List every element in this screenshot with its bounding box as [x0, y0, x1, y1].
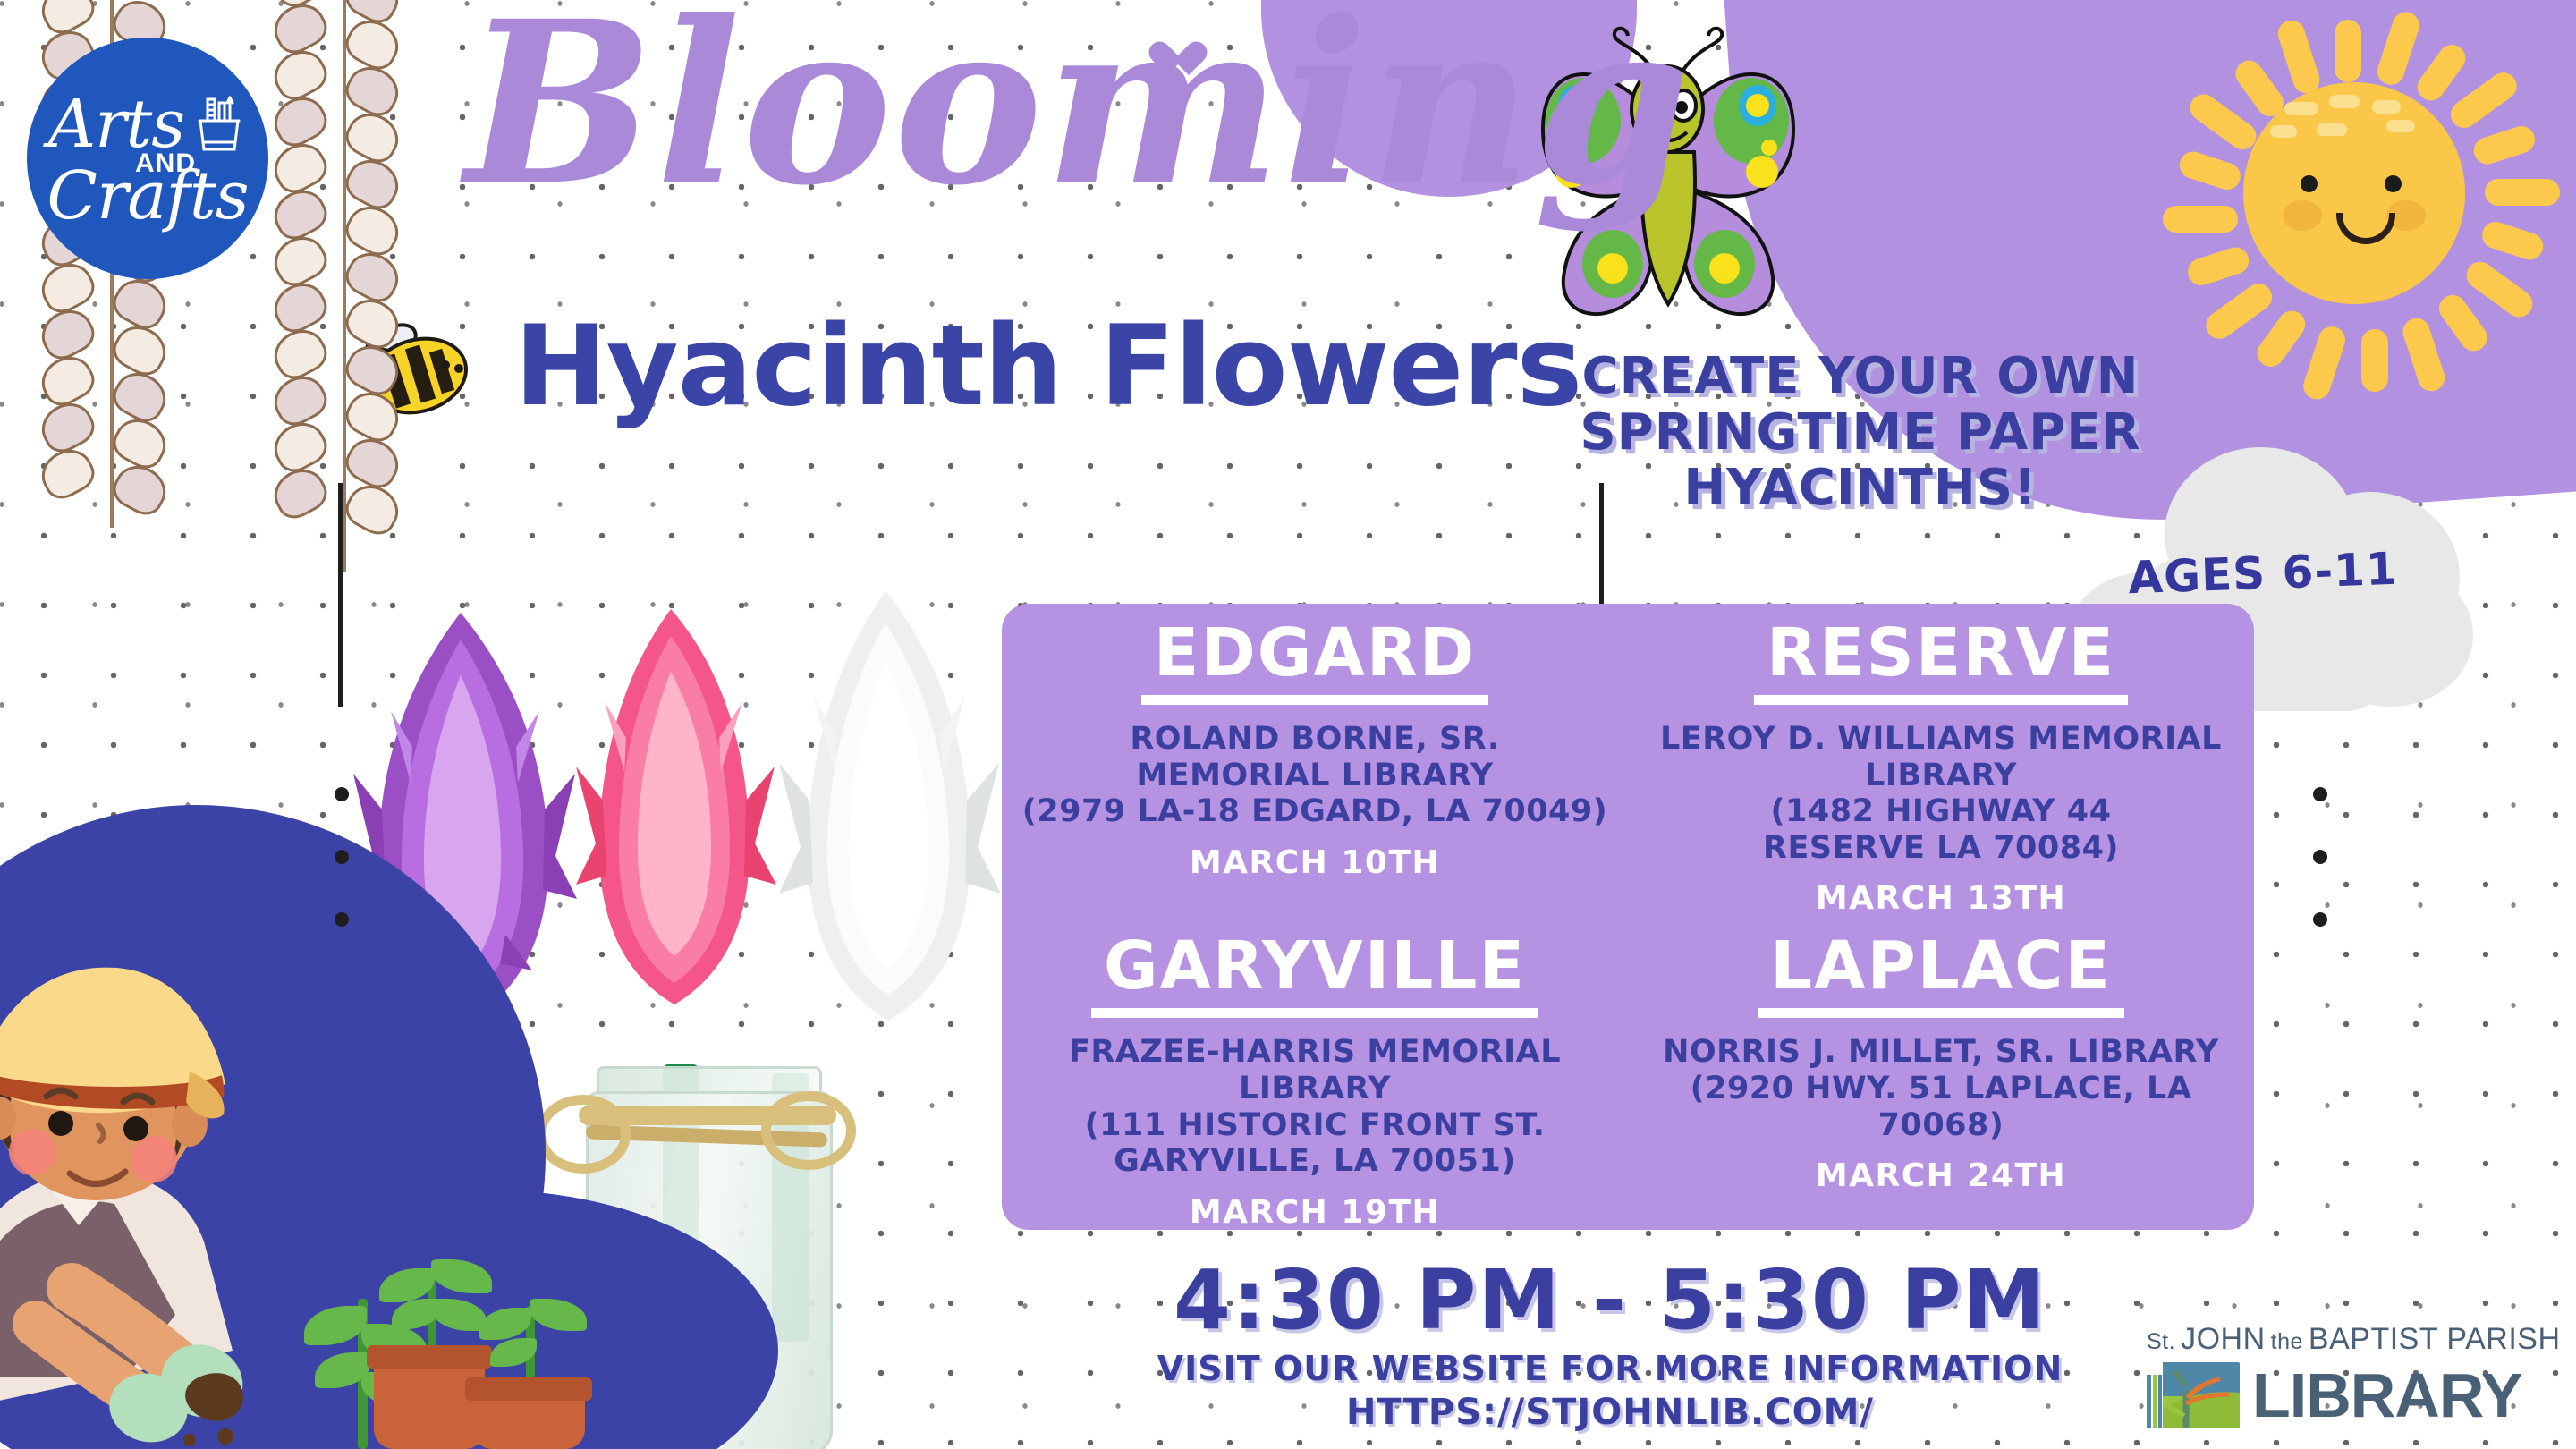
location-date: MARCH 10TH — [1190, 844, 1440, 881]
logo-the: the — [2271, 1329, 2303, 1355]
badge-crafts-label: Crafts — [47, 168, 248, 225]
logo-parish: BAPTIST PARISH — [2309, 1322, 2561, 1357]
sun-ray — [2252, 306, 2310, 372]
location-city-name: RESERVE — [1754, 620, 2128, 705]
website-url[interactable]: HTTPS://STJOHNLIB.COM/ — [1145, 1392, 2075, 1433]
divider-dot — [335, 912, 349, 927]
arts-and-crafts-badge: Arts AND Crafts — [27, 38, 268, 279]
address-line: LEROY D. WILLIAMS MEMORIAL LIBRARY — [1640, 721, 2241, 793]
divider-dot — [2313, 912, 2327, 927]
sun-ray — [2200, 278, 2277, 344]
sun-ray — [2485, 179, 2560, 206]
location-reserve: RESERVE LEROY D. WILLIAMS MEMORIAL LIBRA… — [1628, 604, 2254, 917]
address-line: MEMORIAL LIBRARY — [1022, 758, 1608, 794]
sun-ray — [2412, 39, 2470, 106]
flower-pot-rim-right — [465, 1377, 592, 1401]
location-city-name: LAPLACE — [1758, 933, 2124, 1018]
address-line: ROLAND BORNE, SR. — [1022, 721, 1608, 758]
smiling-sun-icon — [2129, 0, 2576, 402]
logo-top-line: St. JOHN the BAPTIST PARISH — [2147, 1322, 2558, 1357]
flyer-canvas: Arts AND Crafts — [0, 0, 2576, 1449]
sun-ray — [2445, 67, 2522, 133]
hyacinth-white — [747, 586, 1033, 1091]
sun-ray — [2470, 123, 2538, 167]
vine-petal — [107, 457, 174, 521]
page-subtitle: Hyacinth Flowers — [514, 302, 1581, 431]
location-edgard: EDGARD ROLAND BORNE, SR. MEMORIAL LIBRAR… — [1002, 604, 1628, 917]
description-line-1: CREATE YOUR OWN — [1565, 349, 2156, 405]
address-line: NORRIS J. MILLET, SR. LIBRARY — [1640, 1034, 2241, 1071]
divider-dot — [335, 787, 349, 801]
location-date: MARCH 24TH — [1816, 1157, 2066, 1194]
heart-icon — [1158, 43, 1198, 79]
location-address: ROLAND BORNE, SR. MEMORIAL LIBRARY (2979… — [1022, 721, 1608, 830]
location-address: NORRIS J. MILLET, SR. LIBRARY (2920 HWY.… — [1640, 1034, 2241, 1143]
sun-ray — [2361, 329, 2388, 392]
sun-ray — [2479, 218, 2546, 263]
tree-landscape-icon — [2147, 1362, 2240, 1428]
address-line: GARYVILLE, LA 70051) — [1014, 1143, 1615, 1180]
sun-ray — [2275, 17, 2323, 97]
event-time: 4:30 PM - 5:30 PM — [1145, 1252, 2075, 1348]
divider-dot — [2313, 850, 2327, 864]
location-laplace: LAPLACE NORRIS J. MILLET, SR. LIBRARY (2… — [1628, 917, 2254, 1230]
library-logo: St. JOHN the BAPTIST PARISH — [2147, 1322, 2558, 1438]
sun-ray — [2163, 206, 2238, 233]
location-city-name: EDGARD — [1141, 620, 1488, 705]
address-line: (2920 HWY. 51 LAPLACE, LA 70068) — [1640, 1071, 2241, 1143]
page-title: Blooming — [465, 0, 1692, 215]
pencil-cup-icon — [191, 92, 247, 159]
address-line: (2979 LA-18 EDGARD, LA 70049) — [1022, 793, 1608, 830]
sun-ray — [2400, 315, 2448, 394]
sun-ray — [2374, 9, 2422, 89]
sun-ray — [2184, 244, 2252, 289]
sun-ray — [2176, 148, 2244, 193]
vine-petal — [34, 441, 101, 504]
location-city-name: GARYVILLE — [1091, 933, 1538, 1018]
divider-line-top — [338, 483, 343, 707]
twine-bow-left — [536, 1095, 631, 1174]
address-line: (1482 HIGHWAY 44 — [1640, 793, 2241, 830]
divider-dot — [335, 850, 349, 864]
divider-dot — [2313, 787, 2327, 801]
sun-ray — [2334, 20, 2361, 82]
logo-john: JOHN — [2181, 1322, 2266, 1357]
logo-st: St. — [2147, 1329, 2175, 1355]
location-date: MARCH 13TH — [1816, 880, 2066, 917]
address-line: RESERVE LA 70084) — [1640, 830, 2241, 867]
address-line: FRAZEE-HARRIS MEMORIAL LIBRARY — [1014, 1034, 1615, 1106]
location-garyville: GARYVILLE FRAZEE-HARRIS MEMORIAL LIBRARY… — [1002, 917, 1628, 1230]
location-date: MARCH 19TH — [1190, 1194, 1440, 1231]
website-prompt: VISIT OUR WEBSITE FOR MORE INFORMATION — [1145, 1349, 2075, 1388]
flower-pot-rim-mid — [367, 1345, 492, 1368]
location-address: LEROY D. WILLIAMS MEMORIAL LIBRARY (1482… — [1640, 721, 2241, 866]
sun-ray — [2300, 323, 2348, 402]
sun-ray — [2434, 290, 2492, 356]
locations-card: EDGARD ROLAND BORNE, SR. MEMORIAL LIBRAR… — [1002, 604, 2254, 1230]
address-line: (111 HISTORIC FRONT ST. — [1014, 1107, 1615, 1144]
twine-bow-right — [761, 1091, 856, 1170]
location-address: FRAZEE-HARRIS MEMORIAL LIBRARY (111 HIST… — [1014, 1034, 1615, 1179]
badge-arts-label: Arts — [48, 97, 185, 154]
logo-library-word: LIBRARY — [2252, 1368, 2522, 1424]
